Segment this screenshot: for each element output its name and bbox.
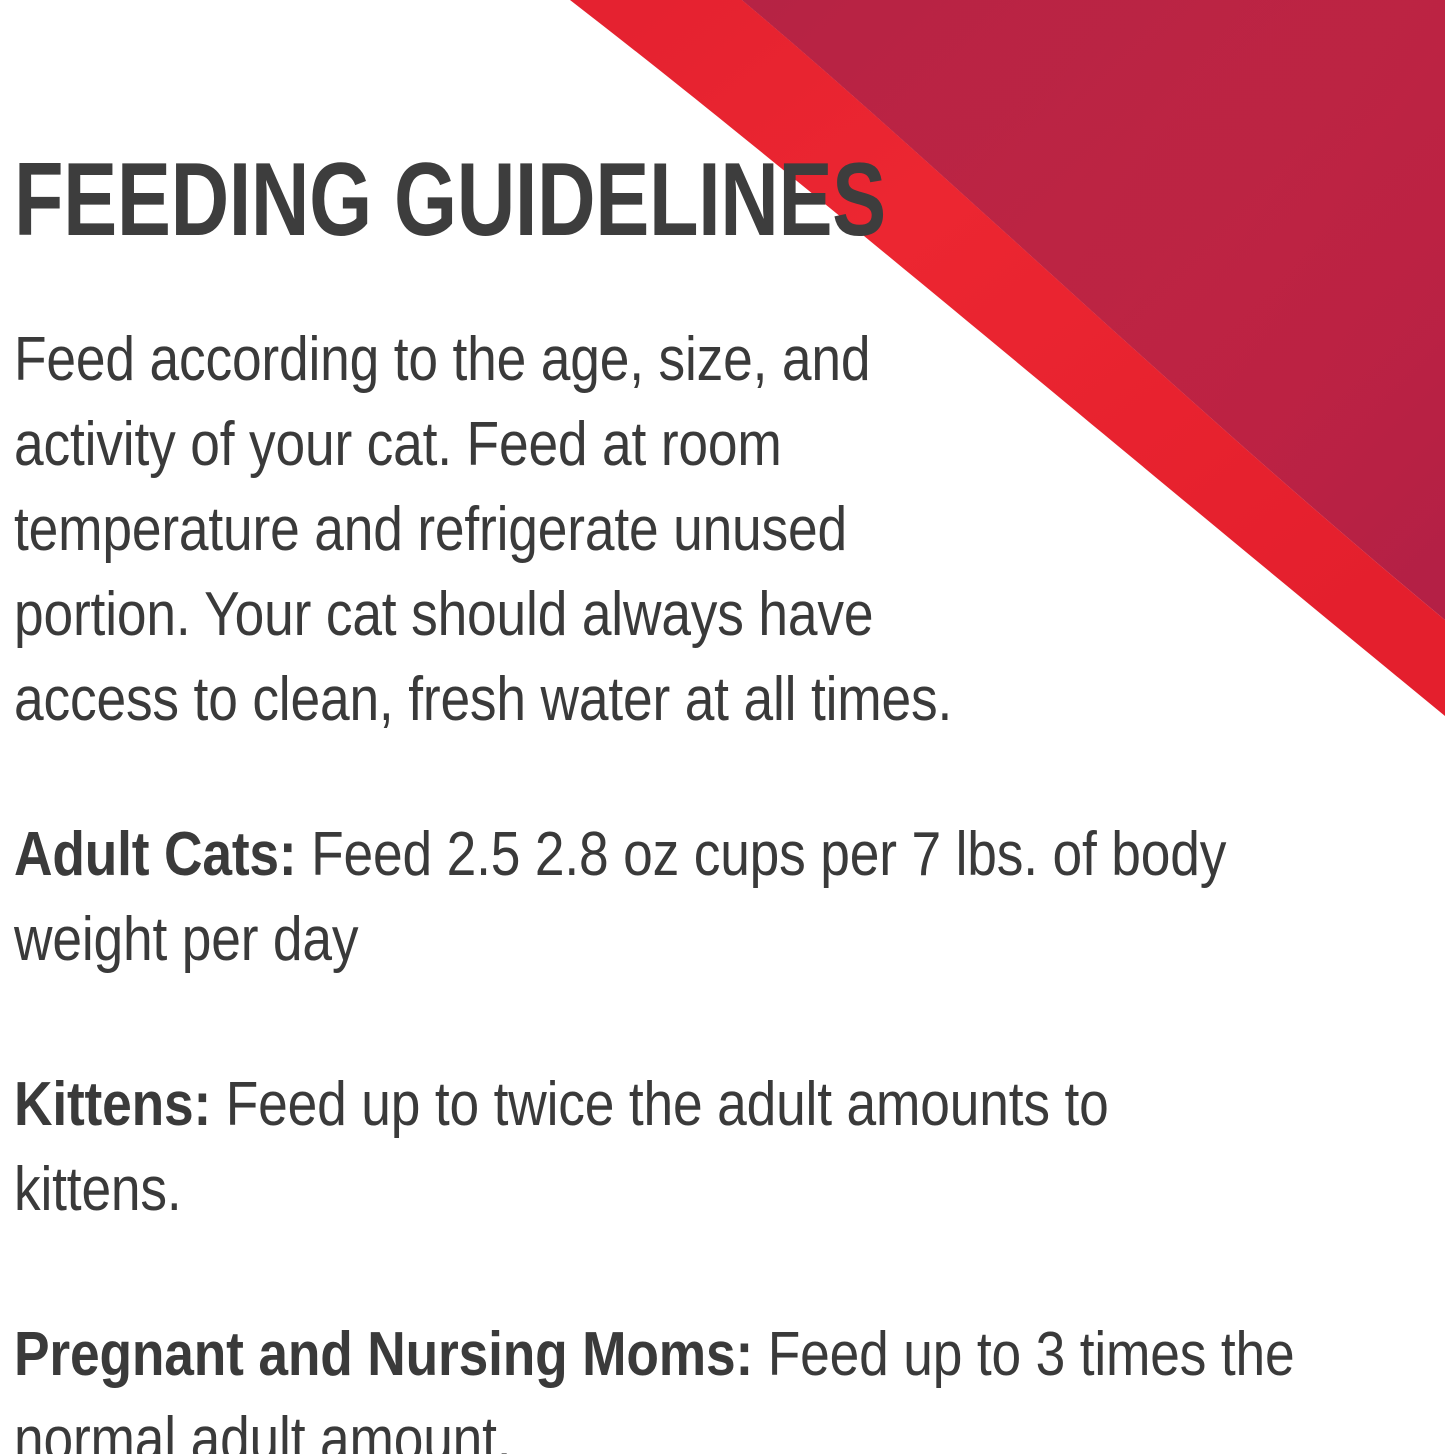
packaging-panel: FEEDING GUIDELINES Feed according to the… (0, 0, 1445, 1454)
intro-paragraph: Feed according to the age, size, and act… (14, 317, 1020, 742)
guideline-adult-cats: Adult Cats: Feed 2.5 2.8 oz cups per 7 l… (14, 812, 1338, 982)
guideline-label-pregnant-nursing-moms: Pregnant and Nursing Moms: (14, 1320, 753, 1389)
guideline-label-adult-cats: Adult Cats: (14, 820, 296, 889)
guideline-pregnant-nursing-moms: Pregnant and Nursing Moms: Feed up to 3 … (14, 1312, 1338, 1454)
page-title: FEEDING GUIDELINES (14, 148, 886, 252)
guideline-kittens: Kittens: Feed up to twice the adult amou… (14, 1062, 1166, 1232)
guideline-label-kittens: Kittens: (14, 1070, 211, 1139)
